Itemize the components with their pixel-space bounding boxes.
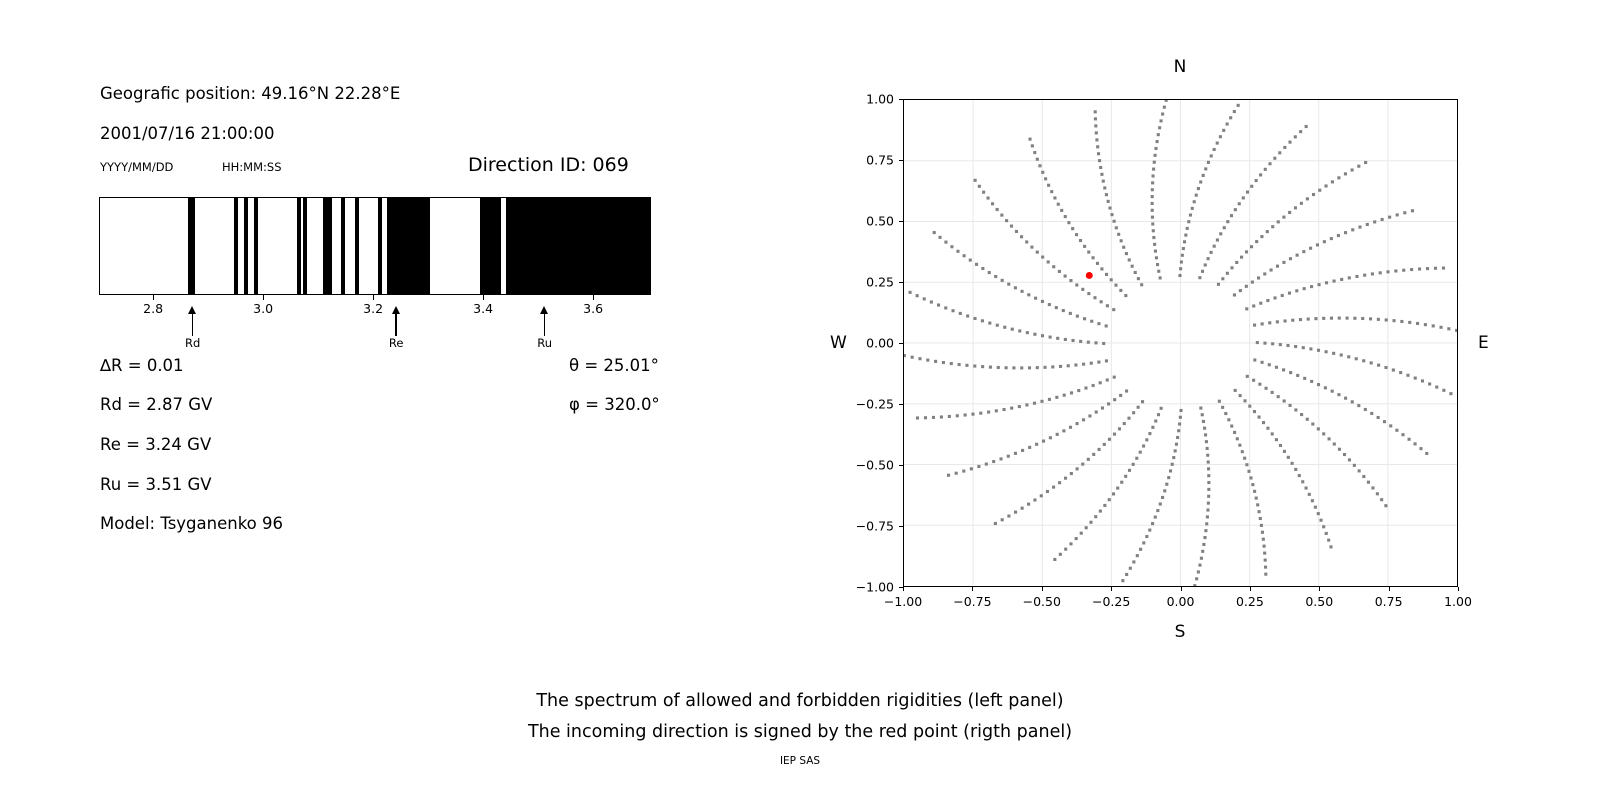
compass-label-south: S [1175, 622, 1186, 642]
y-tick-label: −0.25 [839, 397, 894, 412]
x-tick-mark [1319, 587, 1320, 591]
forbidden-band [480, 198, 501, 294]
y-tick-mark [899, 282, 903, 283]
rigidity-marker-ru: Ru [544, 306, 546, 336]
x-tick-label: −0.75 [953, 594, 991, 609]
footer-credit: IEP SAS [0, 755, 1600, 767]
y-tick-mark [899, 465, 903, 466]
x-tick-mark [1389, 587, 1390, 591]
axis-tick-label: 2.8 [143, 301, 163, 316]
param-phi: φ = 320.0° [569, 395, 660, 414]
forbidden-band [297, 198, 300, 294]
rigidity-marker-rd: Rd [192, 306, 194, 336]
param-model: Model: Tsyganenko 96 [100, 514, 283, 533]
axis-tick-mark [373, 295, 374, 300]
spectrum-axis: 2.83.03.23.43.6 [99, 295, 651, 309]
param-ru: Ru = 3.51 GV [100, 475, 212, 494]
forbidden-band [244, 198, 248, 294]
axis-tick-label: 3.2 [363, 301, 383, 316]
compass-label-north: N [1174, 57, 1187, 77]
forbidden-band [506, 198, 651, 294]
x-tick-label: −0.50 [1023, 594, 1061, 609]
axis-tick-mark [153, 295, 154, 300]
marker-label: Ru [537, 336, 552, 350]
marker-label: Rd [185, 336, 200, 350]
axis-tick-mark [593, 295, 594, 300]
y-tick-label: −0.50 [839, 458, 894, 473]
y-tick-label: −0.75 [839, 519, 894, 534]
x-tick-label: 0.25 [1236, 594, 1264, 609]
forbidden-band [303, 198, 307, 294]
forbidden-band [378, 198, 382, 294]
param-re: Re = 3.24 GV [100, 435, 211, 454]
figure-caption: The spectrum of allowed and forbidden ri… [0, 686, 1600, 748]
x-tick-mark [1458, 587, 1459, 591]
compass-label-east: E [1478, 333, 1489, 353]
y-tick-mark [899, 160, 903, 161]
x-tick-mark [903, 587, 904, 591]
marker-label: Re [389, 336, 404, 350]
forbidden-band [234, 198, 238, 294]
datetime-label: 2001/07/16 21:00:00 [100, 124, 274, 143]
x-tick-mark [1250, 587, 1251, 591]
rigidity-marker-re: Re [395, 306, 397, 336]
y-tick-mark [899, 99, 903, 100]
marker-shaft [192, 312, 193, 336]
axis-tick-mark [483, 295, 484, 300]
time-format-hint: HH:MM:SS [222, 160, 282, 174]
forbidden-band [341, 198, 345, 294]
rigidity-spectrum [99, 197, 651, 295]
direction-id-label: Direction ID: 069 [468, 154, 629, 176]
axis-tick-label: 3.6 [583, 301, 603, 316]
forbidden-band [188, 198, 196, 294]
y-tick-label: 0.25 [839, 275, 894, 290]
y-tick-label: 0.00 [839, 336, 894, 351]
direction-panel: N S W E −1.00−0.75−0.50−0.250.000.250.50… [800, 0, 1600, 660]
x-tick-label: 0.50 [1305, 594, 1333, 609]
spectrum-panel: Geografic position: 49.16°N 22.28°E 2001… [0, 0, 780, 660]
y-tick-mark [899, 221, 903, 222]
date-format-hint: YYYY/MM/DD [100, 160, 173, 174]
param-theta: θ = 25.01° [569, 356, 659, 375]
x-tick-label: 1.00 [1444, 594, 1472, 609]
x-tick-mark [972, 587, 973, 591]
polar-scatter-plot [903, 99, 1458, 587]
param-rd: Rd = 2.87 GV [100, 395, 212, 414]
y-tick-label: 0.50 [839, 214, 894, 229]
grid-lines [904, 100, 1457, 586]
y-tick-label: −1.00 [839, 580, 894, 595]
forbidden-band [254, 198, 257, 294]
marker-shaft [544, 312, 545, 336]
axis-tick-label: 3.4 [473, 301, 493, 316]
x-tick-label: 0.00 [1167, 594, 1195, 609]
y-tick-mark [899, 343, 903, 344]
geographic-position-label: Geografic position: 49.16°N 22.28°E [100, 84, 400, 103]
axis-tick-label: 3.0 [253, 301, 273, 316]
forbidden-band [355, 198, 359, 294]
y-tick-label: 1.00 [839, 92, 894, 107]
y-tick-mark [899, 404, 903, 405]
spectrum-bar [99, 197, 651, 295]
axis-tick-mark [263, 295, 264, 300]
x-tick-mark [1181, 587, 1182, 591]
x-tick-label: 0.75 [1375, 594, 1403, 609]
x-tick-mark [1042, 587, 1043, 591]
y-tick-mark [899, 526, 903, 527]
marker-shaft [395, 312, 396, 336]
x-tick-label: −0.25 [1092, 594, 1130, 609]
scatter-canvas [904, 100, 1457, 586]
caption-line-1: The spectrum of allowed and forbidden ri… [0, 686, 1600, 717]
forbidden-band [323, 198, 331, 294]
y-tick-label: 0.75 [839, 153, 894, 168]
forbidden-band [387, 198, 430, 294]
x-tick-mark [1111, 587, 1112, 591]
caption-line-2: The incoming direction is signed by the … [0, 717, 1600, 748]
incoming-direction-point [1086, 272, 1093, 279]
x-tick-label: −1.00 [884, 594, 922, 609]
param-delta-r: ∆R = 0.01 [100, 356, 184, 375]
